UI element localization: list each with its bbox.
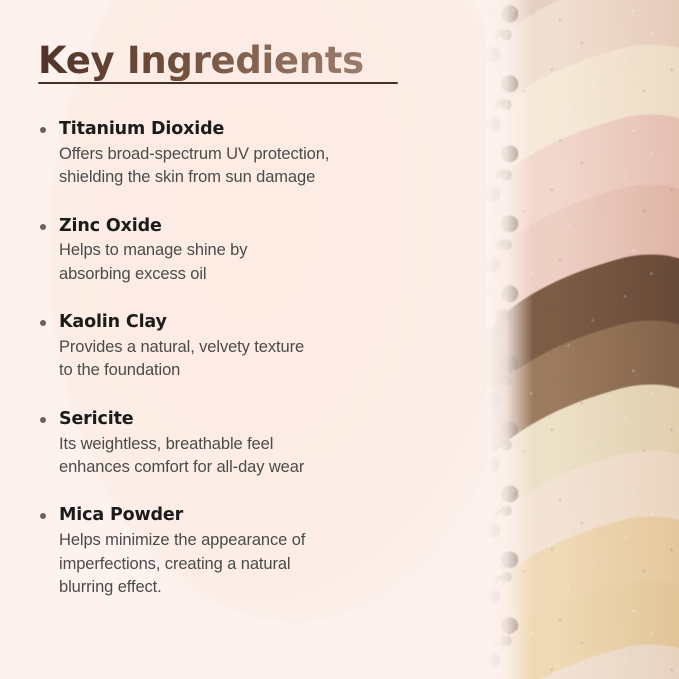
ingredient-description: Its weightless, breathable feel enhances… xyxy=(59,433,438,480)
powder-swatch-image xyxy=(487,0,679,679)
ingredient-item: Kaolin ClayProvides a natural, velvety t… xyxy=(38,311,438,383)
ingredient-description: Helps minimize the appearance of imperfe… xyxy=(59,529,438,599)
ingredient-description: Provides a natural, velvety texture to t… xyxy=(59,336,438,383)
bullet-dot-icon xyxy=(40,127,46,133)
bullet-dot-icon xyxy=(40,417,46,423)
powder-swatch-bands xyxy=(487,0,679,679)
bullet-dot-icon xyxy=(40,224,46,230)
title-underline xyxy=(38,82,398,84)
ingredient-name: Mica Powder xyxy=(59,504,438,527)
ingredient-name: Kaolin Clay xyxy=(59,311,438,334)
ingredient-description: Helps to manage shine by absorbing exces… xyxy=(59,239,438,286)
ingredient-description: Offers broad-spectrum UV protection, shi… xyxy=(59,143,438,190)
page-title: Key Ingredients xyxy=(38,40,428,81)
ingredient-name: Sericite xyxy=(59,408,438,431)
content-column: Key Ingredients Titanium DioxideOffers b… xyxy=(0,0,470,679)
ingredient-name: Titanium Dioxide xyxy=(59,118,438,141)
ingredient-item: SericiteIts weightless, breathable feel … xyxy=(38,408,438,480)
title-block: Key Ingredients xyxy=(38,40,428,84)
ingredient-item: Zinc OxideHelps to manage shine by absor… xyxy=(38,215,438,287)
ingredient-list: Titanium DioxideOffers broad-spectrum UV… xyxy=(38,118,438,599)
ingredients-poster: Key Ingredients Titanium DioxideOffers b… xyxy=(0,0,679,679)
ingredient-item: Mica PowderHelps minimize the appearance… xyxy=(38,504,438,599)
bullet-dot-icon xyxy=(40,513,46,519)
ingredient-name: Zinc Oxide xyxy=(59,215,438,238)
ingredient-item: Titanium DioxideOffers broad-spectrum UV… xyxy=(38,118,438,190)
bullet-dot-icon xyxy=(40,320,46,326)
